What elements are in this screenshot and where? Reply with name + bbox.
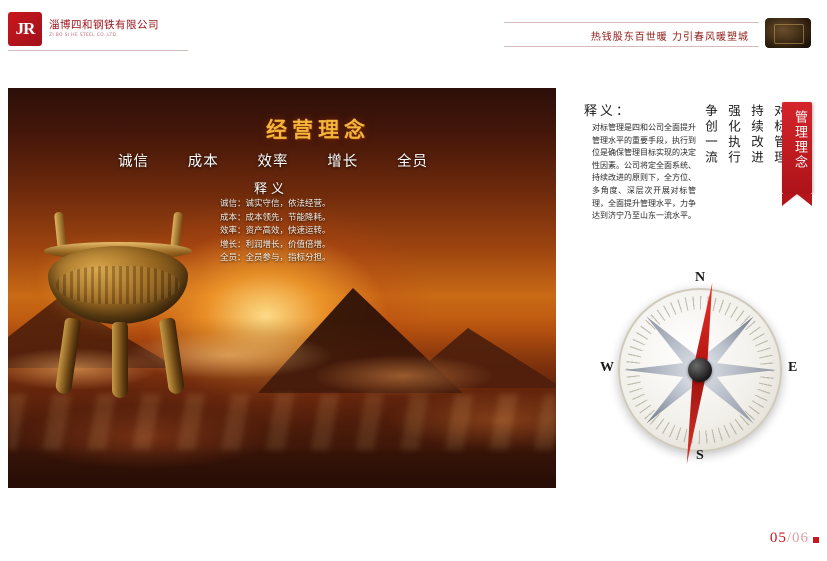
poster-keyword-3: 增长: [327, 150, 358, 171]
poster-keyword-4: 全员: [397, 150, 428, 171]
poster-keyword-2: 效率: [258, 150, 289, 171]
company-name-block: 淄博四和钢铁有限公司 ZI BO SI HE STEEL CO.,LTD.: [49, 19, 159, 39]
compass-hub: [688, 358, 712, 382]
page-current: 05: [770, 530, 787, 546]
explanation-label: 释义：: [584, 100, 632, 119]
compass-label-east: E: [788, 360, 797, 376]
ding-leg-middle: [112, 322, 128, 398]
right-content-column: 释义： 对标管理是四和公司全面提升管理水平的重要手段，执行到位是确保管理目标实现…: [570, 88, 818, 488]
poster-definition-list: 诚信：诚实守信，依法经营。 成本：成本领先，节能降耗。 效率：资产高效，快速运转…: [220, 198, 375, 266]
page-total: 06: [792, 530, 809, 546]
poster-keyword-0: 诚信: [118, 150, 149, 171]
poster-subtitle: 释义: [254, 178, 288, 197]
company-name-en: ZI BO SI HE STEEL CO.,LTD.: [49, 32, 159, 39]
header-divider-right-top: [504, 22, 759, 23]
poster-definition-2: 效率：资产高效，快速运转。: [220, 225, 375, 239]
page-number: 05/06: [770, 530, 809, 547]
poster-definition-0: 诚信：诚实守信，依法经营。: [220, 198, 375, 212]
header-slogan: 热钱股东百世暖 力引春风暖塑城: [591, 28, 749, 43]
ding-leg-right: [159, 317, 185, 394]
compass-label-north: N: [695, 270, 705, 286]
page-header: JR 淄博四和钢铁有限公司 ZI BO SI HE STEEL CO.,LTD.…: [0, 0, 827, 56]
vertical-slogan-block: 对标管理 持续改进 强化执行 争创一流: [702, 104, 788, 166]
ding-leg-left: [55, 317, 81, 394]
red-banner-tail: [782, 194, 812, 206]
company-brand: JR 淄博四和钢铁有限公司 ZI BO SI HE STEEL CO.,LTD.: [8, 10, 308, 48]
seal-stamp-icon: [765, 18, 811, 48]
ding-pattern: [56, 266, 180, 304]
vertical-slogan-2: 强化执行: [725, 104, 742, 166]
poster-definition-1: 成本：成本领先，节能降耗。: [220, 212, 375, 226]
vertical-slogan-3: 争创一流: [702, 104, 719, 166]
poster-keyword-list: 诚信 成本 效率 增长 全员: [118, 150, 428, 171]
header-divider-right-bottom: [504, 46, 759, 47]
poster-image: 经营理念 诚信 成本 效率 增长 全员 释义 诚信：诚实守信，依法经营。 成本：…: [8, 88, 556, 488]
vertical-slogan-1: 持续改进: [748, 104, 765, 166]
page-marker-square: [813, 537, 819, 543]
compass-label-west: W: [600, 360, 614, 376]
compass-graphic: N S W E: [600, 270, 800, 470]
red-banner: 管理理念: [782, 102, 812, 194]
header-right-group: 热钱股东百世暖 力引春风暖塑城: [499, 6, 819, 50]
bronze-ding-vessel: [32, 218, 202, 418]
header-divider-left: [8, 50, 188, 51]
poster-title: 经营理念: [266, 114, 370, 144]
company-name-cn: 淄博四和钢铁有限公司: [49, 19, 159, 32]
poster-definition-4: 全员：全员参与，指标分担。: [220, 252, 375, 266]
compass-label-south: S: [696, 448, 704, 464]
red-banner-text: 管理理念: [782, 110, 812, 170]
poster-keyword-1: 成本: [188, 150, 219, 171]
poster-definition-3: 增长：利润增长，价值倍增。: [220, 239, 375, 253]
company-logo-icon: JR: [8, 12, 42, 46]
explanation-body: 对标管理是四和公司全面提升管理水平的重要手段，执行到位是确保管理目标实现的决定性…: [592, 122, 696, 223]
